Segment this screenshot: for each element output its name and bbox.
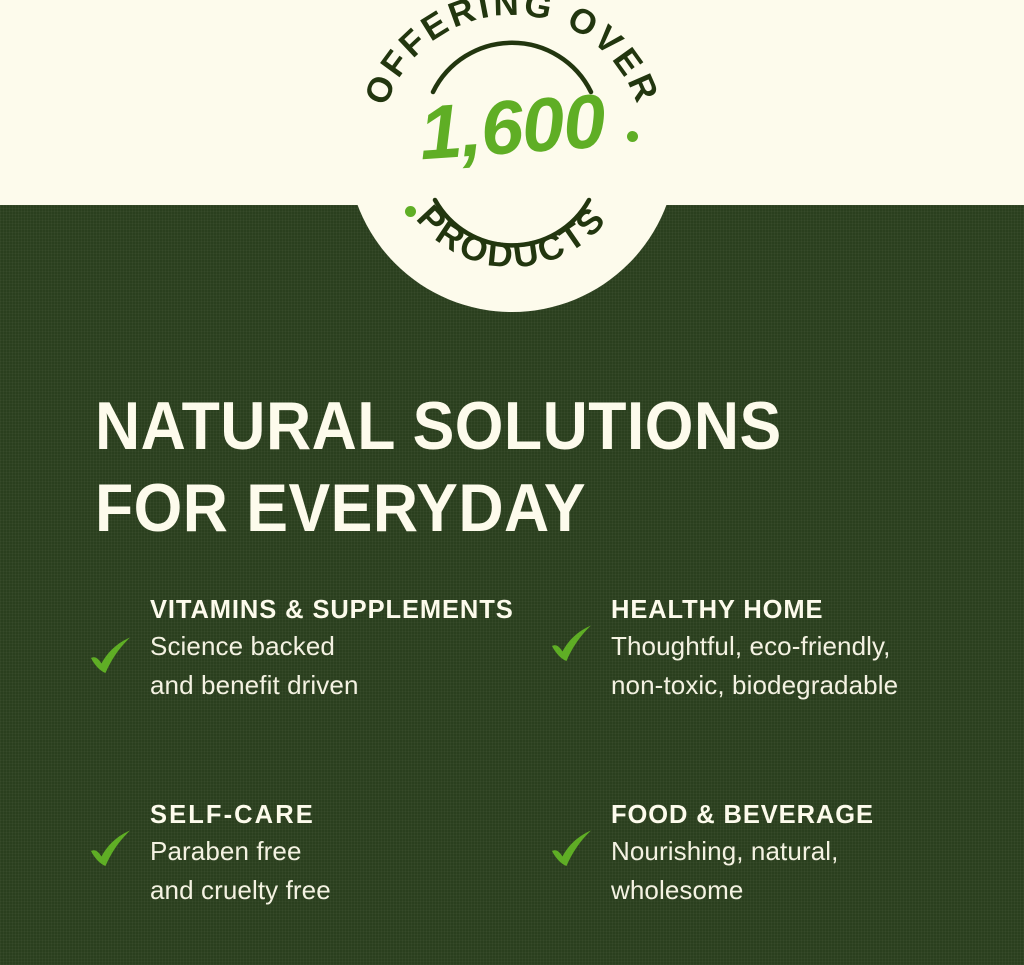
feature-body: SELF-CARE Paraben free and cruelty free: [150, 797, 537, 910]
feature-item-food-beverage: FOOD & BEVERAGE Nourishing, natural, who…: [543, 797, 988, 910]
feature-body: FOOD & BEVERAGE Nourishing, natural, who…: [611, 797, 982, 910]
badge-dot-left-icon: [405, 206, 416, 217]
feature-body: HEALTHY HOME Thoughtful, eco-friendly, n…: [611, 592, 982, 705]
feature-desc-line-2: and cruelty free: [150, 871, 537, 910]
feature-item-healthy-home: HEALTHY HOME Thoughtful, eco-friendly, n…: [543, 592, 988, 797]
feature-description: Nourishing, natural, wholesome: [611, 832, 982, 910]
feature-title: HEALTHY HOME: [611, 594, 982, 627]
feature-title: FOOD & BEVERAGE: [611, 799, 982, 832]
headline-line-1: NATURAL SOLUTIONS: [95, 385, 905, 467]
page-title: NATURAL SOLUTIONS FOR EVERYDAY: [95, 385, 905, 549]
feature-desc-line-1: Thoughtful, eco-friendly,: [611, 627, 982, 666]
headline-line-2: FOR EVERYDAY: [95, 467, 905, 549]
feature-description: Paraben free and cruelty free: [150, 832, 537, 910]
feature-title: SELF-CARE: [150, 799, 537, 832]
feature-item-vitamins-supplements: VITAMINS & SUPPLEMENTS Science backed an…: [88, 592, 543, 797]
feature-list: VITAMINS & SUPPLEMENTS Science backed an…: [88, 592, 988, 910]
promo-banner: OFFERING OVER PRODUCTS 1,600 NATURAL SOL…: [0, 0, 1024, 965]
feature-desc-line-1: Paraben free: [150, 832, 537, 871]
feature-title-line-2: SUPPLEMENTS: [312, 596, 513, 624]
feature-desc-line-2: and benefit driven: [150, 666, 537, 705]
check-icon: [88, 592, 150, 676]
feature-title: VITAMINS & SUPPLEMENTS: [150, 594, 537, 627]
feature-desc-line-1: Science backed: [150, 627, 537, 666]
feature-title-line-1: FOOD & BEVERAGE: [611, 801, 874, 829]
check-icon: [88, 797, 150, 869]
feature-description: Thoughtful, eco-friendly, non-toxic, bio…: [611, 627, 982, 705]
feature-title-line-1: SELF-CARE: [150, 801, 315, 829]
feature-description: Science backed and benefit driven: [150, 627, 537, 705]
feature-desc-line-2: non-toxic, biodegradable: [611, 666, 982, 705]
feature-desc-line-2: wholesome: [611, 871, 982, 910]
feature-desc-line-1: Nourishing, natural,: [611, 832, 982, 871]
feature-body: VITAMINS & SUPPLEMENTS Science backed an…: [150, 592, 537, 705]
feature-item-self-care: SELF-CARE Paraben free and cruelty free: [88, 797, 543, 910]
feature-title-line-1: VITAMINS &: [150, 596, 304, 624]
feature-title-line-1: HEALTHY HOME: [611, 596, 823, 624]
check-icon: [549, 592, 611, 664]
offering-over-products-badge: OFFERING OVER PRODUCTS 1,600: [347, 0, 677, 312]
check-icon: [549, 797, 611, 869]
